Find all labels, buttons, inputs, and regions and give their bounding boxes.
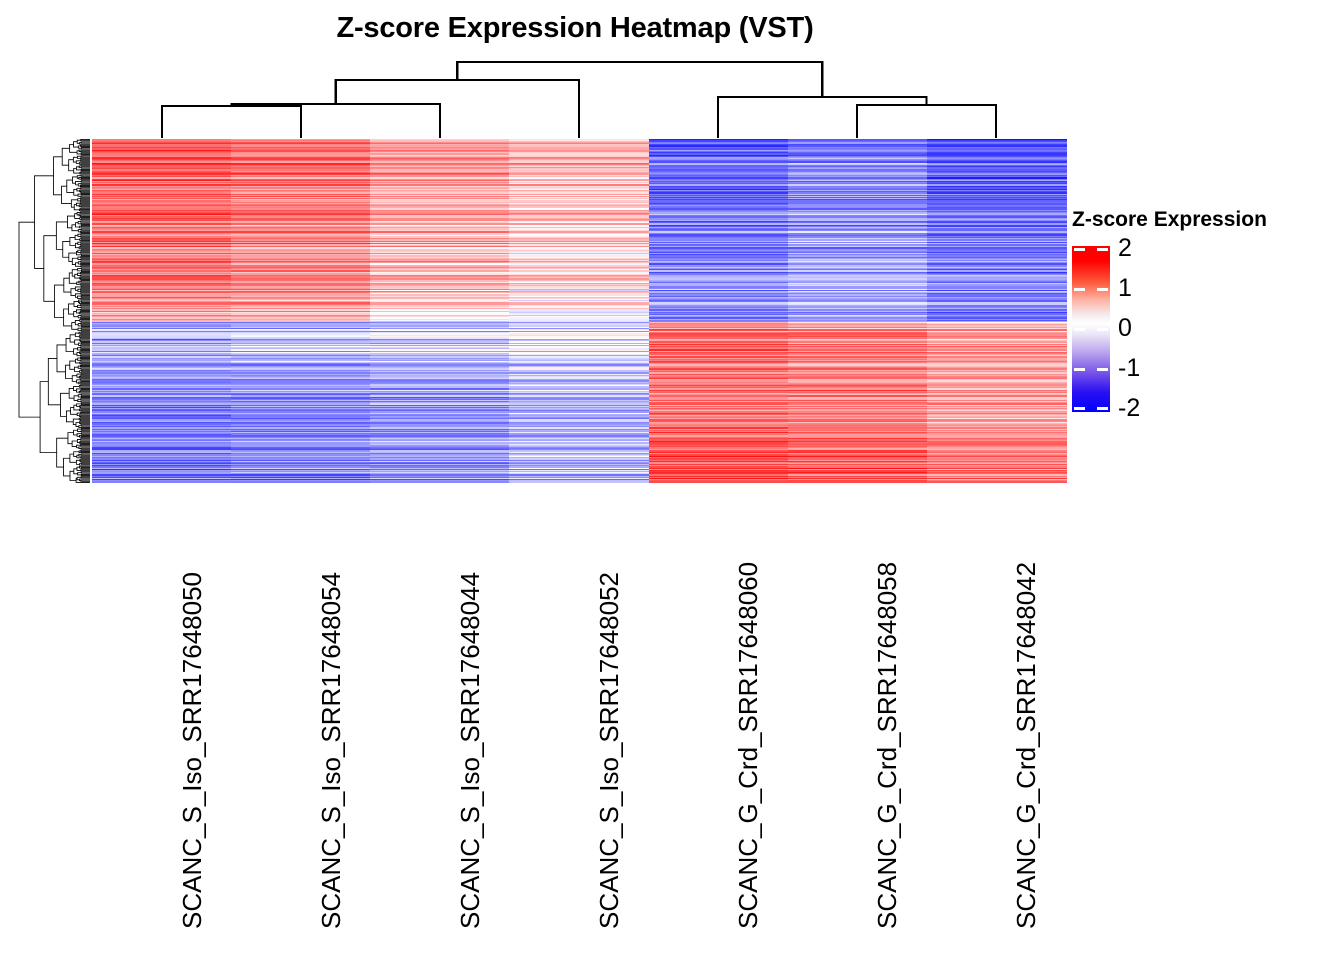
legend-tick-1: 1 <box>1118 276 1132 301</box>
legend: Z-score Expression 2 1 0 -1 -2 <box>1072 208 1334 423</box>
heatmap-cells <box>92 139 1067 483</box>
column-label-4: SCANC_S_Iso_SRR17648052 <box>594 572 625 929</box>
column-label-5: SCANC_G_Crd_SRR17648060 <box>733 562 764 929</box>
column-dendrogram <box>92 58 1067 138</box>
column-label-6: SCANC_G_Crd_SRR17648058 <box>872 562 903 929</box>
column-label-7: SCANC_G_Crd_SRR17648042 <box>1011 562 1042 929</box>
legend-tick-2: 2 <box>1118 236 1132 261</box>
heatmap-body <box>92 139 1067 483</box>
column-label-1: SCANC_S_Iso_SRR17648050 <box>177 572 208 929</box>
legend-tick-n1: -1 <box>1118 356 1140 381</box>
column-label-2: SCANC_S_Iso_SRR17648054 <box>316 572 347 929</box>
legend-title: Z-score Expression <box>1072 208 1267 232</box>
page-title: Z-score Expression Heatmap (VST) <box>0 12 1150 45</box>
legend-colorbar <box>1072 246 1110 412</box>
row-dendrogram <box>18 139 90 483</box>
legend-tick-0: 0 <box>1118 316 1132 341</box>
heatmap-figure: Z-score Expression Heatmap (VST) SCANC_S… <box>0 0 1344 960</box>
column-label-3: SCANC_S_Iso_SRR17648044 <box>455 572 486 929</box>
legend-tick-n2: -2 <box>1118 396 1140 421</box>
